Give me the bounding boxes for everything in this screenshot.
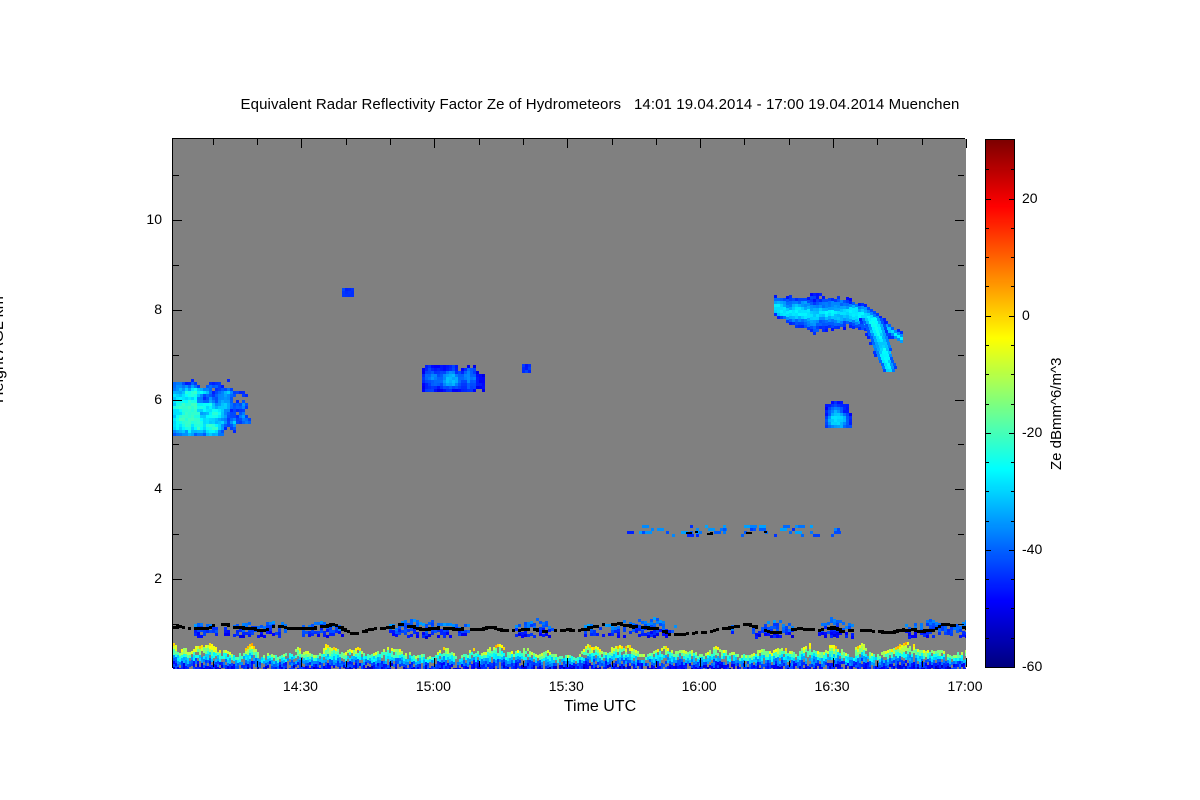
x-tick-label: 14:30 [255,678,345,694]
plot-area [172,138,965,668]
colorbar-gradient [986,140,1014,667]
x-tick-label: 16:30 [787,678,877,694]
colorbar-title: Ze dBmm^6/m^3 [1048,358,1065,470]
y-tick-label: 8 [102,301,162,317]
colorbar [985,139,1015,668]
x-tick-label: 17:00 [920,678,1010,694]
colorbar-tick-label: -60 [1022,658,1042,674]
x-tick-label: 15:00 [388,678,478,694]
colorbar-tick-label: 20 [1022,190,1038,206]
colorbar-tick-label: -20 [1022,424,1042,440]
y-tick-label: 10 [102,211,162,227]
y-tick-label: 6 [102,391,162,407]
x-tick-label: 16:00 [654,678,744,694]
y-tick-label: 2 [102,570,162,586]
y-axis-title: Height AGL km [0,296,8,403]
y-tick-label: 4 [102,480,162,496]
reflectivity-heatmap [173,139,966,669]
colorbar-tick-label: -40 [1022,541,1042,557]
x-tick-label: 15:30 [521,678,611,694]
x-axis-title: Time UTC [0,698,1200,716]
colorbar-tick-label: 0 [1022,307,1030,323]
chart-title: Equivalent Radar Reflectivity Factor Ze … [0,96,1200,113]
